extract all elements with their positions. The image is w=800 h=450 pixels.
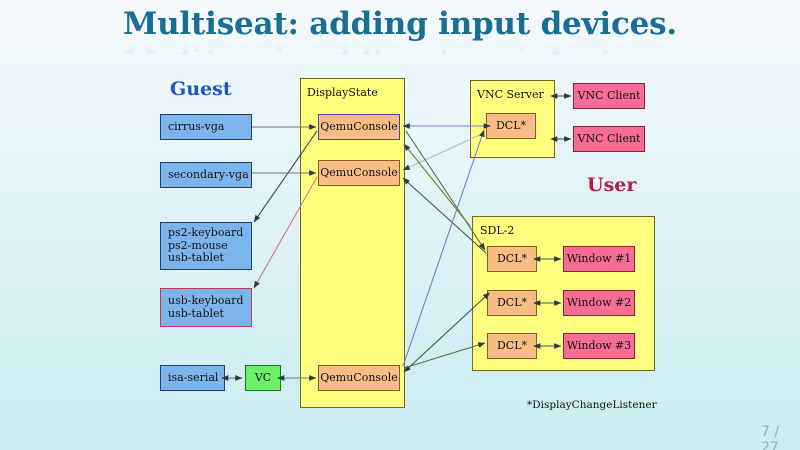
user-section-heading: User <box>587 174 636 196</box>
qemu-console-2[interactable]: QemuConsole <box>318 160 400 186</box>
sdl2-dcl-2[interactable]: DCL* <box>487 290 537 316</box>
qemu-console-1[interactable]: QemuConsole <box>318 114 400 140</box>
sdl2-dcl-3[interactable]: DCL* <box>487 333 537 359</box>
qemu-console-label: QemuConsole <box>320 167 397 180</box>
device-label: cirrus-vga <box>168 121 224 134</box>
page-number: 7 / 27 <box>761 424 800 450</box>
qemu-console-label: QemuConsole <box>320 372 397 385</box>
device-box-usb-input[interactable]: usb-keyboard usb-tablet <box>160 288 252 327</box>
window-label: Window #2 <box>567 297 632 310</box>
vnc-client-2[interactable]: VNC Client <box>573 126 645 152</box>
dcl-label: DCL* <box>497 297 527 310</box>
dcl-label: DCL* <box>497 253 527 266</box>
page-title: Multiseat: adding input devices. <box>0 8 800 41</box>
device-box-ps2-input[interactable]: ps2-keyboard ps2-mouse usb-tablet <box>160 222 252 270</box>
guest-section-heading: Guest <box>170 78 232 100</box>
window-label: Window #3 <box>567 340 632 353</box>
vnc-dcl-box[interactable]: DCL* <box>486 113 536 139</box>
vnc-client-1[interactable]: VNC Client <box>573 83 645 109</box>
page-title-reflection: Multiseat: adding input devices. <box>0 41 800 57</box>
device-label: isa-serial <box>168 372 218 385</box>
device-label: secondary-vga <box>168 169 249 182</box>
device-box-cirrus-vga[interactable]: cirrus-vga <box>160 114 252 140</box>
vc-label: VC <box>255 372 271 385</box>
vnc-server-label: VNC Server <box>477 88 544 101</box>
qemu-console-3[interactable]: QemuConsole <box>318 365 400 391</box>
qemu-console-label: QemuConsole <box>320 121 397 134</box>
dcl-label: DCL* <box>497 340 527 353</box>
window-label: Window #1 <box>567 253 632 266</box>
slide-title-block: Multiseat: adding input devices. Multise… <box>0 8 800 57</box>
sdl2-label: SDL-2 <box>480 224 514 237</box>
device-box-isa-serial[interactable]: isa-serial <box>160 365 225 391</box>
slide-canvas: Multiseat: adding input devices. Multise… <box>0 0 800 450</box>
sdl2-window-2[interactable]: Window #2 <box>563 290 635 316</box>
sdl2-dcl-1[interactable]: DCL* <box>487 246 537 272</box>
vnc-client-label: VNC Client <box>578 133 641 146</box>
device-label: ps2-keyboard ps2-mouse usb-tablet <box>168 227 243 266</box>
footnote-text: *DisplayChangeListener <box>527 399 657 411</box>
vc-box[interactable]: VC <box>245 365 281 391</box>
sdl2-window-3[interactable]: Window #3 <box>563 333 635 359</box>
device-box-secondary-vga[interactable]: secondary-vga <box>160 162 252 188</box>
device-label: usb-keyboard usb-tablet <box>168 295 243 321</box>
vnc-client-label: VNC Client <box>578 90 641 103</box>
dcl-label: DCL* <box>496 120 526 133</box>
sdl2-window-1[interactable]: Window #1 <box>563 246 635 272</box>
displaystate-label: DisplayState <box>307 86 378 99</box>
arrow-sdl2-to-console1 <box>404 144 470 226</box>
